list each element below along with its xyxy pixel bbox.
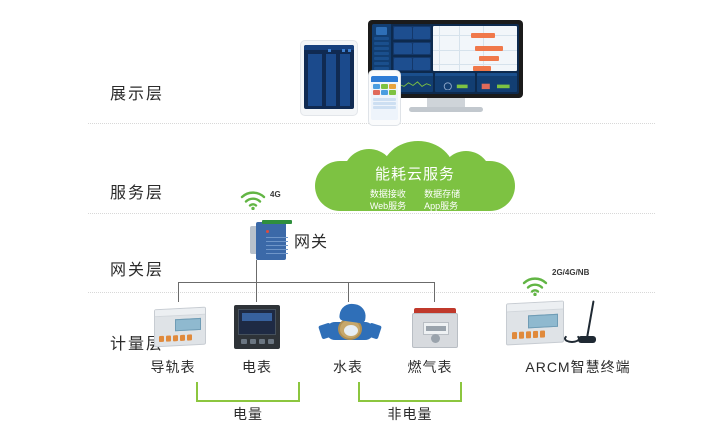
cloud-features-left: 数据接收 Web服务 xyxy=(370,188,406,212)
water-meter-icon xyxy=(320,306,380,348)
din-rail-meter-icon xyxy=(154,307,206,348)
meter-water xyxy=(310,302,388,352)
arcm-terminal: 2G/4G/NB xyxy=(500,298,630,356)
gas-meter-icon xyxy=(412,308,458,348)
panel-meter-icon xyxy=(234,305,280,349)
architecture-diagram: 展示层 服务层 网关层 计量层 xyxy=(0,0,715,443)
gateway-node: 4G 网关 xyxy=(232,190,362,260)
gateway-network-badge: 4G xyxy=(270,190,281,199)
meter-gas xyxy=(396,302,474,352)
gateway-label: 网关 xyxy=(294,228,328,252)
layer-divider-gateway xyxy=(88,292,655,293)
group-label-non-electric: 非电量 xyxy=(358,404,462,424)
connector-bus xyxy=(178,282,434,283)
bracket-electric xyxy=(196,382,300,402)
connector-drop-din xyxy=(178,282,179,302)
wifi-icon xyxy=(240,190,266,210)
arcm-device-icon xyxy=(506,300,564,345)
connector-drop-water xyxy=(348,282,349,302)
meter-electricity xyxy=(218,302,296,352)
terminal-network-badge: 2G/4G/NB xyxy=(552,268,589,277)
display-layer-devices xyxy=(300,8,540,120)
meter-din-rail xyxy=(140,302,218,352)
cloud-feature-data-storage: 数据存储 xyxy=(424,188,460,200)
cloud-feature-app-service: App服务 xyxy=(424,200,460,212)
cloud-feature-web-service: Web服务 xyxy=(370,200,406,212)
layer-title-service: 服务层 xyxy=(110,179,164,203)
connector-drop-electric xyxy=(256,282,257,302)
gauge-icon xyxy=(437,81,473,90)
smartphone-icon xyxy=(368,70,401,126)
cloud-features-right: 数据存储 App服务 xyxy=(424,188,460,212)
cloud-title: 能耗云服务 xyxy=(315,163,515,184)
bracket-non-electric xyxy=(358,382,462,402)
meter-label-gas: 燃气表 xyxy=(375,357,485,377)
group-label-electric: 电量 xyxy=(196,404,300,424)
gateway-device-icon xyxy=(250,220,286,260)
layer-title-gateway: 网关层 xyxy=(110,256,164,280)
connector-gateway-trunk xyxy=(256,260,257,282)
layer-divider-service xyxy=(88,213,655,214)
bar-chart-icon xyxy=(479,81,515,90)
terminal-label: ARCM智慧终端 xyxy=(508,357,648,377)
cloud-feature-data-receive: 数据接收 xyxy=(370,188,406,200)
tablet-icon xyxy=(300,40,358,116)
layer-title-display: 展示层 xyxy=(110,80,164,104)
connector-drop-gas xyxy=(434,282,435,302)
wifi-icon xyxy=(522,276,548,296)
